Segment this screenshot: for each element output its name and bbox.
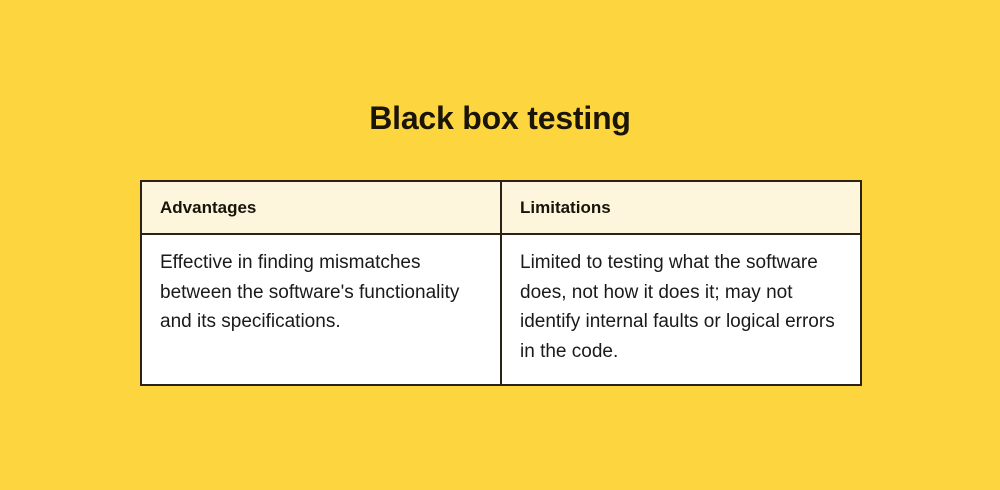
table-row: Effective in finding mismatches between … [141, 234, 861, 385]
column-header-limitations: Limitations [501, 181, 861, 234]
table-header: Advantages Limitations [141, 181, 861, 234]
column-header-advantages: Advantages [141, 181, 501, 234]
comparison-table: Advantages Limitations Effective in find… [140, 180, 862, 386]
comparison-table-container: Advantages Limitations Effective in find… [140, 180, 860, 386]
slide-canvas: Black box testing Advantages Limitations… [0, 0, 1000, 490]
page-title: Black box testing [0, 99, 1000, 137]
table-body: Effective in finding mismatches between … [141, 234, 861, 385]
table-header-row: Advantages Limitations [141, 181, 861, 234]
cell-limitations: Limited to testing what the software doe… [501, 234, 861, 385]
cell-advantages: Effective in finding mismatches between … [141, 234, 501, 385]
